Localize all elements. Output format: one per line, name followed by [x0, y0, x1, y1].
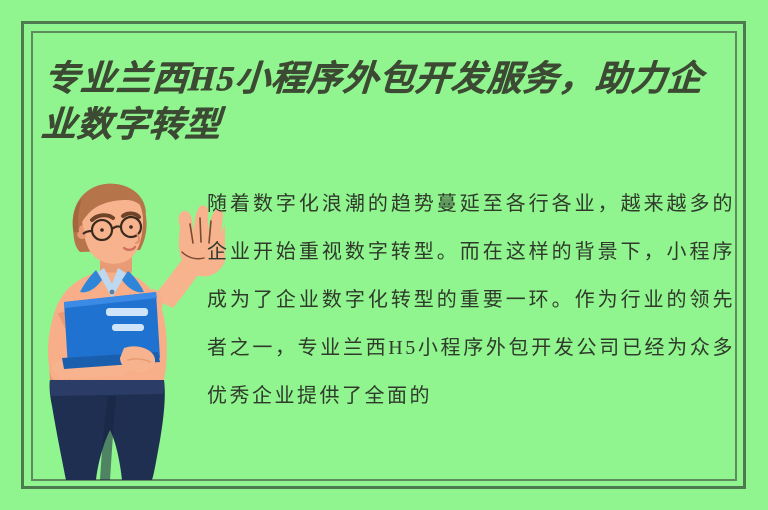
- folder-label-line-1: [106, 308, 148, 316]
- article-body: 随着数字化浪潮的趋势蔓延至各行各业，越来越多的企业开始重视数字转型。而在这样的背…: [207, 180, 735, 420]
- waistband: [50, 380, 164, 396]
- page-title: 专业兰西H5小程序外包开发服务，助力企业数字转型: [40, 56, 726, 148]
- eye-right: [129, 225, 133, 229]
- shirt-button-1: [110, 290, 115, 295]
- folder-label-line-2: [112, 324, 144, 331]
- illustration-man-waving: [40, 180, 225, 480]
- article-card: 专业兰西H5小程序外包开发服务，助力企业数字转型: [0, 0, 768, 510]
- eye-left: [100, 228, 104, 232]
